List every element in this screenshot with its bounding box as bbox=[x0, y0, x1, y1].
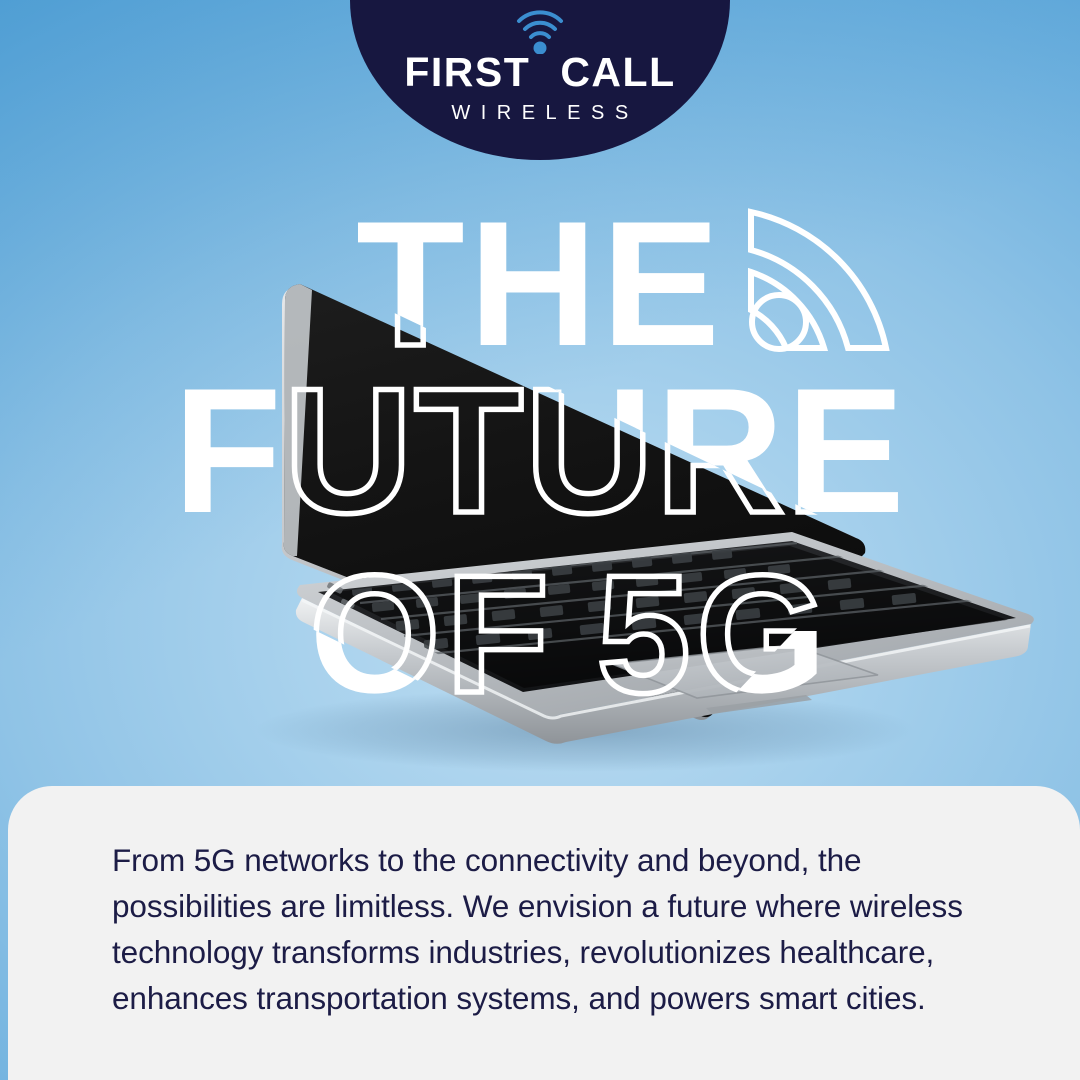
description-panel: From 5G networks to the connectivity and… bbox=[8, 786, 1080, 1080]
brand-name-first: FIRST bbox=[404, 49, 530, 95]
headline-line3-word2-outline: 5G bbox=[597, 540, 833, 728]
description-text: From 5G networks to the connectivity and… bbox=[112, 838, 1010, 1022]
headline-line3-word1-outline: OF bbox=[309, 540, 554, 728]
brand-name-call: CALL bbox=[560, 49, 675, 95]
brand-tagline: WIRELESS bbox=[441, 103, 638, 123]
social-post-card: THE FUTURE OF 5G THE FUTURE OF 5G bbox=[0, 0, 1080, 1080]
headline-line2-outline: FUTURE bbox=[173, 351, 907, 550]
headline-outline-layer: THE FUTURE OF 5G bbox=[173, 184, 907, 728]
brand-name: FIRSTCALL bbox=[404, 52, 675, 93]
wifi-arcs-icon bbox=[751, 210, 886, 349]
brand-badge: FIRSTCALL WIRELESS bbox=[350, 0, 730, 160]
wifi-signal-icon bbox=[512, 6, 568, 54]
